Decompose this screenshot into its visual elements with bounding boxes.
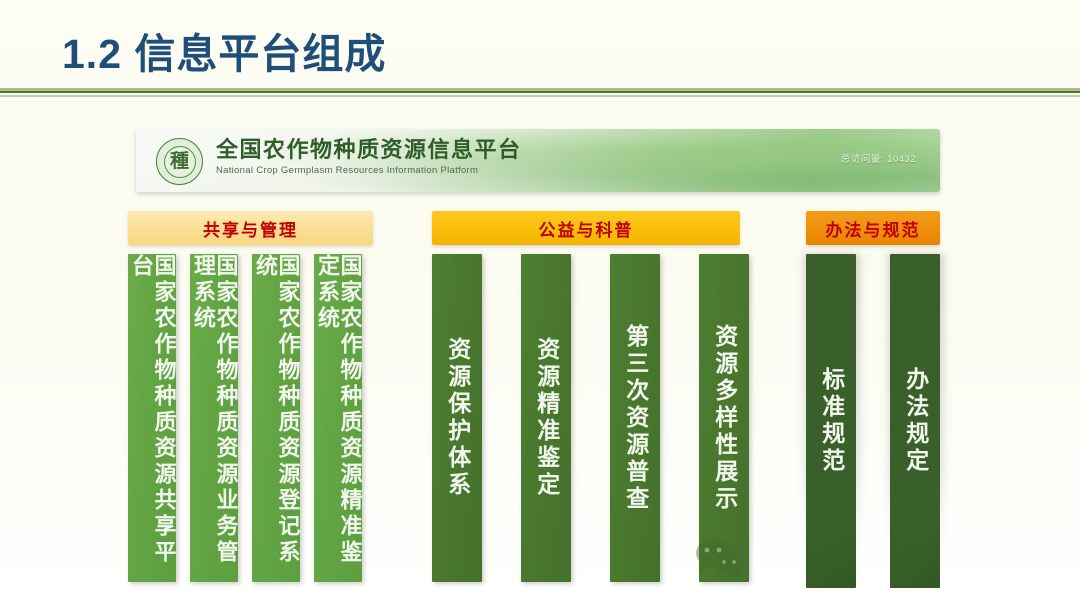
page-title: 1.2 信息平台组成 bbox=[62, 20, 386, 80]
bar-resource-diversity-display[interactable]: 资源多样性展示 bbox=[699, 254, 749, 582]
category-header-methods-standards[interactable]: 办法与规范 bbox=[806, 211, 940, 245]
platform-title-en: National Crop Germplasm Resources Inform… bbox=[216, 165, 522, 176]
bar-label: 标准规范 bbox=[819, 367, 842, 475]
bar-resource-protection-system[interactable]: 资源保护体系 bbox=[432, 254, 482, 582]
platform-title-cn: 全国农作物种质资源信息平台 bbox=[216, 137, 522, 162]
bar-label: 第三次资源普查 bbox=[623, 324, 646, 513]
slide-canvas: 1.2 信息平台组成 種 全国农作物种质资源信息平台 National Crop… bbox=[0, 0, 1080, 608]
bar-label: 国家农作物种质资源精准鉴定系统 bbox=[316, 254, 361, 582]
divider-rule-bottom bbox=[0, 95, 1080, 97]
divider-rule-middle bbox=[0, 91, 1080, 93]
category-header-sharing-management[interactable]: 共享与管理 bbox=[128, 211, 373, 245]
visit-counter: 总访问量: 10432 bbox=[841, 151, 916, 165]
bar-third-resource-census[interactable]: 第三次资源普查 bbox=[610, 254, 660, 582]
bar-label: 国家农作物种质资源共享平台 bbox=[130, 254, 175, 582]
bar-label: 资源精准鉴定 bbox=[534, 337, 557, 499]
bar-label: 国家农作物种质资源登记系统 bbox=[254, 254, 299, 582]
bar-resource-precision-identification[interactable]: 资源精准鉴定 bbox=[521, 254, 571, 582]
platform-seal-icon: 種 bbox=[156, 138, 203, 185]
banner-text-block: 全国农作物种质资源信息平台 National Crop Germplasm Re… bbox=[216, 137, 522, 176]
bar-label: 资源保护体系 bbox=[445, 337, 468, 499]
bar-label: 国家农作物种质资源业务管理系统 bbox=[192, 254, 237, 582]
bar-label: 办法规定 bbox=[903, 367, 926, 475]
bar-precision-identification-system[interactable]: 国家农作物种质资源精准鉴定系统 bbox=[314, 254, 362, 582]
bar-methods-regulations[interactable]: 办法规定 bbox=[890, 254, 940, 588]
bar-business-management-system[interactable]: 国家农作物种质资源业务管理系统 bbox=[190, 254, 238, 582]
bar-standards-specifications[interactable]: 标准规范 bbox=[806, 254, 856, 588]
platform-seal-glyph: 種 bbox=[164, 146, 196, 178]
bar-label: 资源多样性展示 bbox=[712, 324, 735, 513]
category-header-public-science[interactable]: 公益与科普 bbox=[432, 211, 740, 245]
title-zone: 1.2 信息平台组成 bbox=[0, 0, 1080, 88]
bar-sharing-platform[interactable]: 国家农作物种质资源共享平台 bbox=[128, 254, 176, 582]
platform-banner: 種 全国农作物种质资源信息平台 National Crop Germplasm … bbox=[136, 129, 940, 192]
bar-registration-system[interactable]: 国家农作物种质资源登记系统 bbox=[252, 254, 300, 582]
